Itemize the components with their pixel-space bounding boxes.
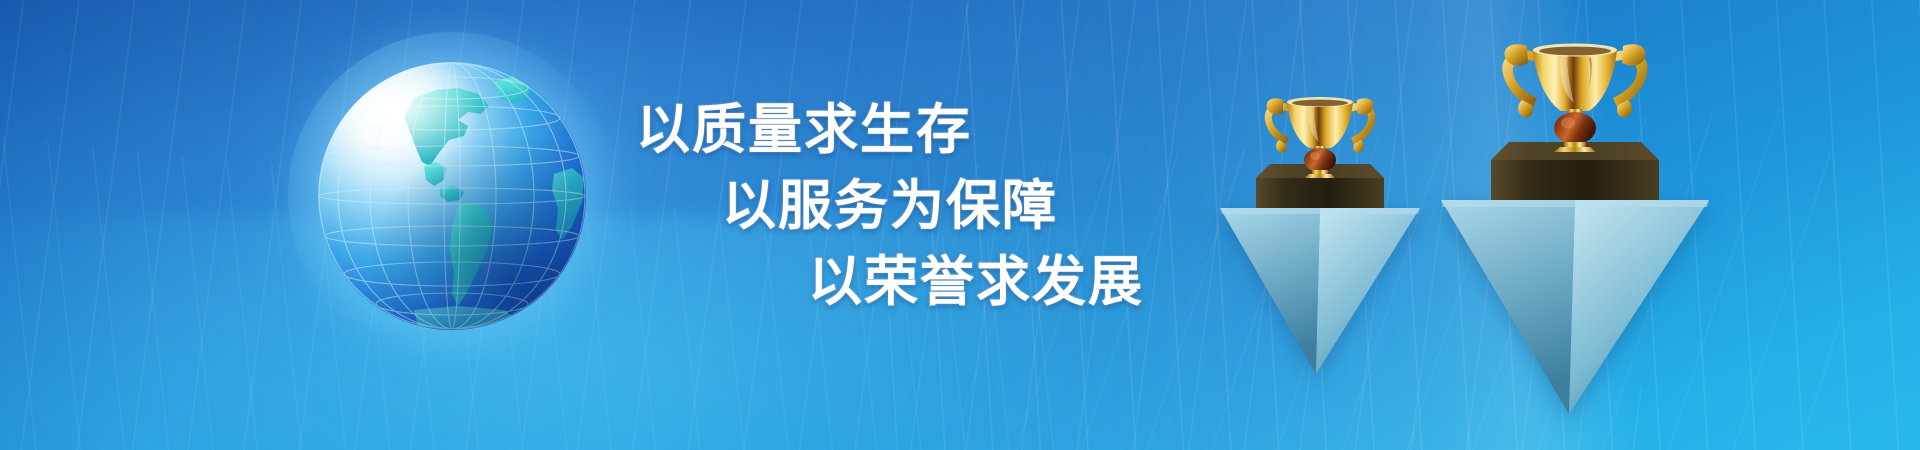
promo-banner: 以质量求生存 以服务为保障 以荣誉求发展 [0, 0, 1920, 450]
globe-grid-icon [318, 62, 586, 330]
pyramid-pedestal-left [1220, 206, 1420, 386]
pyramid-pedestal-right [1441, 198, 1709, 428]
world-globe [318, 62, 586, 330]
trophy-group-right [1430, 28, 1720, 448]
slogan-block: 以质量求生存 以服务为保障 以荣誉求发展 [636, 92, 1196, 320]
slogan-line-1: 以质量求生存 [636, 92, 1196, 168]
trophy-cup-left [1245, 86, 1395, 178]
trophy-cup-right [1477, 28, 1673, 152]
slogan-line-2: 以服务为保障 [636, 168, 1196, 244]
trophy-group-left [1210, 86, 1430, 446]
globe-sphere [318, 62, 586, 330]
slogan-line-3: 以荣誉求发展 [636, 244, 1196, 320]
